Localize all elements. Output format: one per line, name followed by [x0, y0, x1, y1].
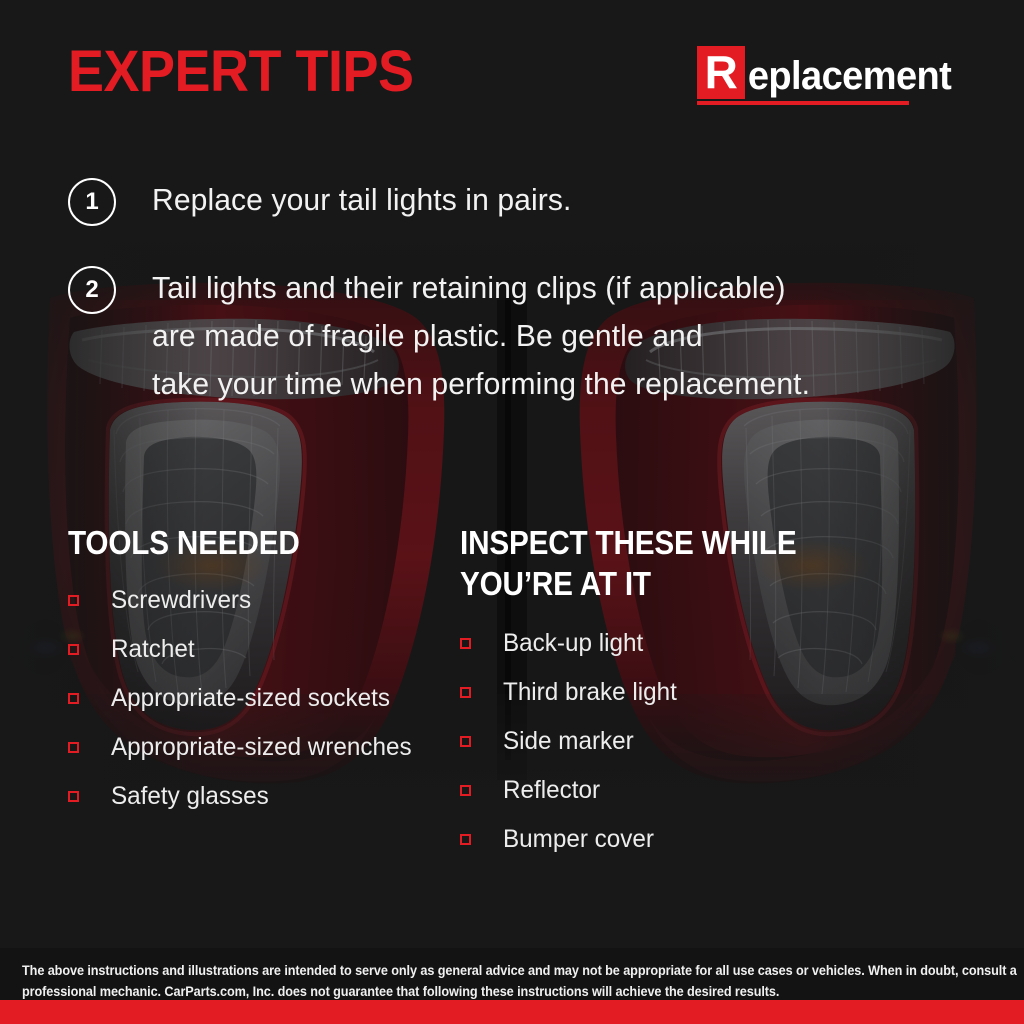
- inspect-these-list: Back-up light Third brake light Side mar…: [460, 630, 880, 853]
- list-item: Side marker: [460, 728, 880, 755]
- tools-needed-column: TOOLS NEEDED Screwdrivers Ratchet Approp…: [68, 522, 460, 875]
- checkbox-icon[interactable]: [460, 736, 471, 747]
- list-item: Screwdrivers: [68, 587, 460, 614]
- logo-word: eplacement: [745, 53, 951, 99]
- list-item: Appropriate-sized sockets: [68, 685, 460, 712]
- list-item: Bumper cover: [460, 826, 880, 853]
- list-item: Back-up light: [460, 630, 880, 657]
- list-item-label: Third brake light: [503, 679, 677, 706]
- footer-disclaimer: The above instructions and illustrations…: [0, 948, 1024, 1000]
- tip-number-badge: 2: [68, 266, 116, 314]
- header: EXPERT TIPS R eplacement: [0, 0, 1024, 140]
- list-item: Appropriate-sized wrenches: [68, 734, 460, 761]
- list-item-label: Appropriate-sized sockets: [111, 685, 390, 712]
- logo-underline: [697, 101, 909, 105]
- tip-text: Tail lights and their retaining clips (i…: [152, 264, 810, 408]
- inspect-these-heading: INSPECT THESE WHILE YOU’RE AT IT: [460, 522, 838, 604]
- checkbox-icon[interactable]: [68, 791, 79, 802]
- checkbox-icon[interactable]: [68, 693, 79, 704]
- list-item: Safety glasses: [68, 783, 460, 810]
- list-item-label: Safety glasses: [111, 783, 269, 810]
- tools-needed-list: Screwdrivers Ratchet Appropriate-sized s…: [68, 587, 460, 810]
- list-item-label: Bumper cover: [503, 826, 654, 853]
- checklist-columns: TOOLS NEEDED Screwdrivers Ratchet Approp…: [68, 522, 968, 875]
- checkbox-icon[interactable]: [68, 742, 79, 753]
- tip-text: Replace your tail lights in pairs.: [152, 176, 571, 224]
- list-item: Reflector: [460, 777, 880, 804]
- expert-tips-infographic: EXPERT TIPS R eplacement 1 Replace your …: [0, 0, 1024, 1024]
- list-item: Third brake light: [460, 679, 880, 706]
- checkbox-icon[interactable]: [460, 785, 471, 796]
- list-item-label: Back-up light: [503, 630, 643, 657]
- checkbox-icon[interactable]: [460, 687, 471, 698]
- tools-needed-heading: TOOLS NEEDED: [68, 522, 421, 563]
- list-item-label: Screwdrivers: [111, 587, 251, 614]
- replacement-logo: R eplacement: [697, 46, 962, 105]
- checkbox-icon[interactable]: [460, 638, 471, 649]
- list-item-label: Ratchet: [111, 636, 195, 663]
- tips-list: 1 Replace your tail lights in pairs. 2 T…: [68, 176, 968, 408]
- checkbox-icon[interactable]: [68, 595, 79, 606]
- list-item: Ratchet: [68, 636, 460, 663]
- logo-wordmark: R eplacement: [697, 46, 962, 99]
- list-item-label: Reflector: [503, 777, 600, 804]
- disclaimer-text: The above instructions and illustrations…: [22, 960, 1018, 1002]
- tip-item: 2 Tail lights and their retaining clips …: [68, 264, 968, 408]
- checkbox-icon[interactable]: [460, 834, 471, 845]
- list-item-label: Appropriate-sized wrenches: [111, 734, 412, 761]
- page-title: EXPERT TIPS: [68, 42, 414, 102]
- tip-item: 1 Replace your tail lights in pairs.: [68, 176, 968, 226]
- checkbox-icon[interactable]: [68, 644, 79, 655]
- tip-number-badge: 1: [68, 178, 116, 226]
- inspect-these-column: INSPECT THESE WHILE YOU’RE AT IT Back-up…: [460, 522, 880, 875]
- bottom-red-bar: [0, 1000, 1024, 1024]
- list-item-label: Side marker: [503, 728, 634, 755]
- logo-initial: R: [697, 46, 745, 99]
